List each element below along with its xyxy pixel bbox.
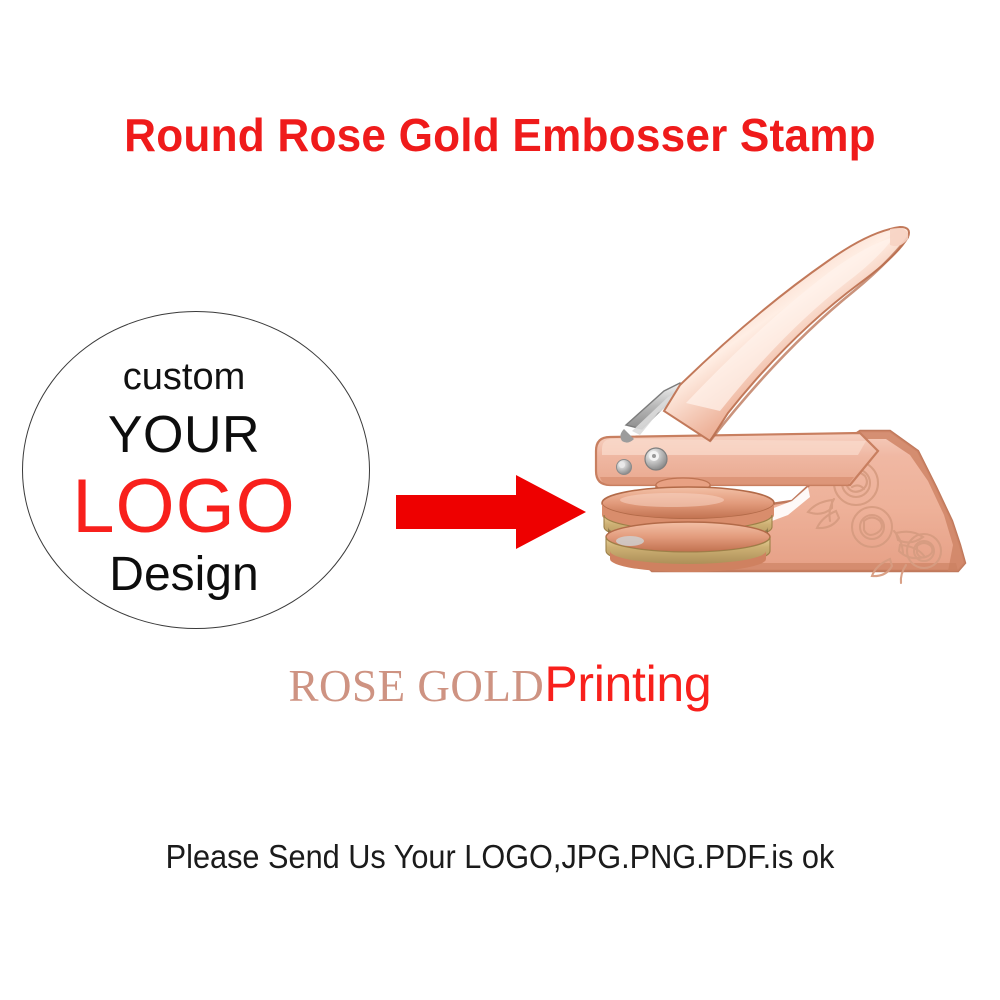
logo-preview-circle — [22, 311, 370, 629]
footer-note: Please Send Us Your LOGO,JPG.PNG.PDF.is … — [35, 838, 965, 876]
page-title: Round Rose Gold Embosser Stamp — [20, 108, 980, 162]
die-stack — [602, 487, 774, 572]
material-caption-prefix: ROSE GOLD — [289, 661, 545, 711]
product-image-canvas: Round Rose Gold Embosser Stamp custom YO… — [0, 0, 1000, 1000]
lever-handle — [664, 227, 909, 441]
material-caption: ROSE GOLDPrinting — [0, 655, 1000, 713]
material-caption-suffix: Printing — [544, 656, 711, 712]
pointer-arrow-icon — [396, 473, 586, 556]
embosser-upper-arm — [596, 433, 878, 485]
embosser-product-illustration — [560, 215, 990, 610]
